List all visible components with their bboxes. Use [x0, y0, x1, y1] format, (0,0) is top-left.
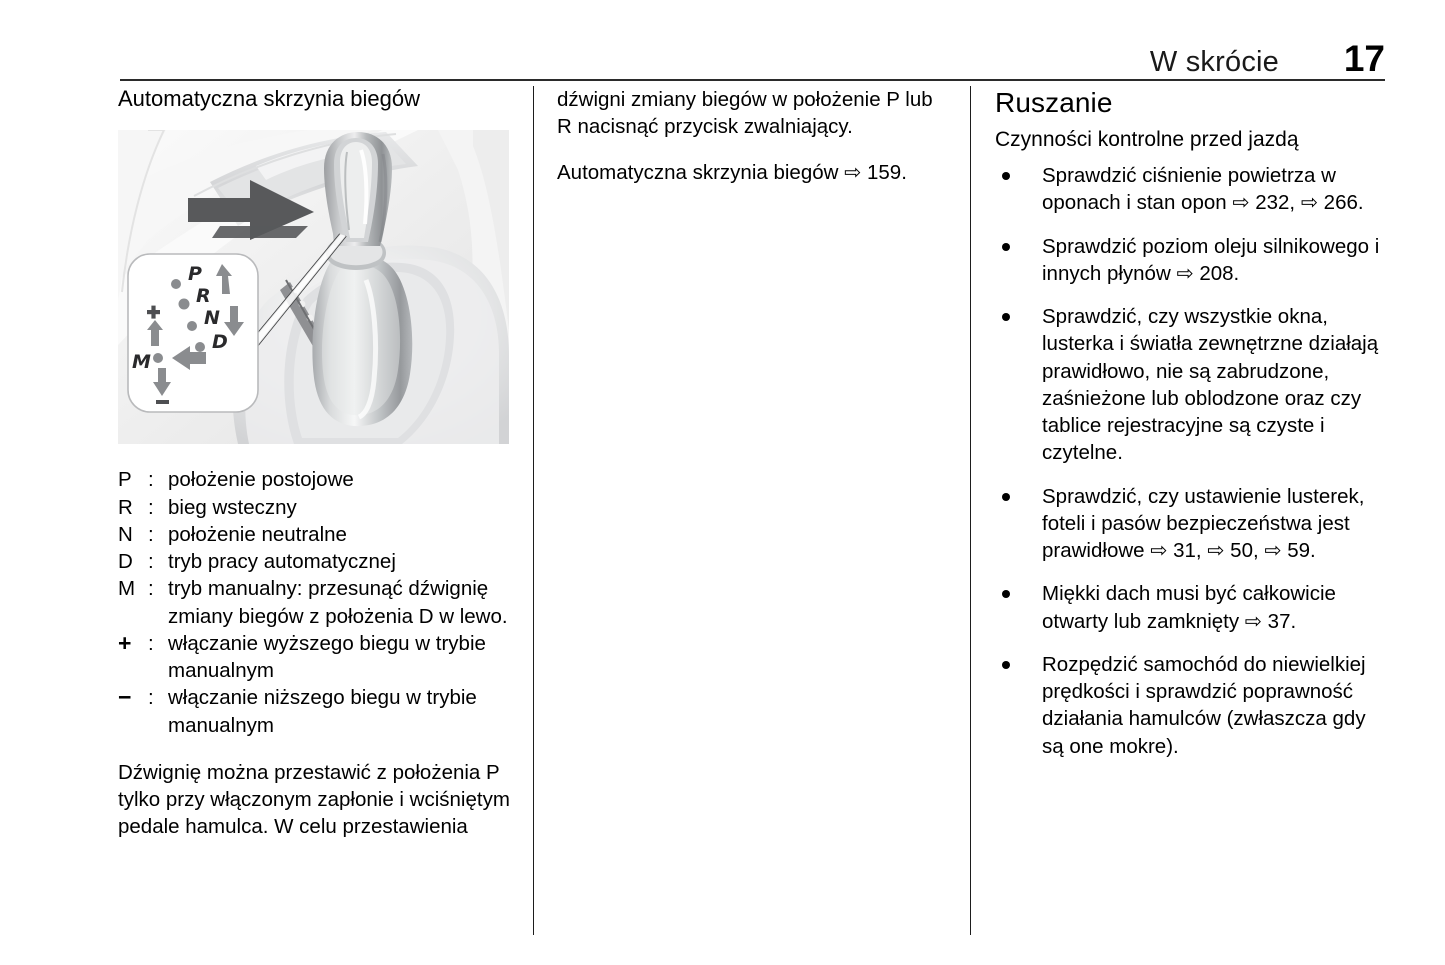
definition-term-plus: + — [118, 630, 148, 658]
bullet-dot-icon — [1002, 313, 1010, 321]
definition-colon: : — [148, 630, 168, 657]
definition-colon: : — [148, 521, 168, 548]
bullet-dot-icon — [1002, 493, 1010, 501]
column-divider-2 — [970, 86, 971, 935]
gear-position-definition-list: P : położenie postojowe R : bieg wsteczn… — [118, 466, 513, 739]
definition-description: włączanie niższego biegu w trybie manual… — [168, 684, 513, 739]
bullet-dot-icon — [1002, 243, 1010, 251]
definition-description: tryb pracy automatycznej — [168, 548, 513, 575]
bullet-dot-icon — [1002, 661, 1010, 669]
column-3: Ruszanie Czynności kontrolne przed jazdą… — [995, 86, 1390, 776]
page-title: W skrócie — [1150, 46, 1279, 79]
header-rule — [120, 79, 1385, 81]
definition-colon: : — [148, 494, 168, 521]
list-item: Rozpędzić samochód do niewielkiej prędko… — [995, 651, 1390, 760]
page-number: 17 — [1327, 38, 1385, 80]
definition-term: D — [118, 548, 148, 575]
definition-term: P — [118, 466, 148, 493]
definition-term: N — [118, 521, 148, 548]
definition-row: R : bieg wsteczny — [118, 494, 513, 521]
list-item: Sprawdzić, czy ustawienie lusterek, fote… — [995, 483, 1390, 565]
svg-text:R: R — [196, 285, 211, 307]
list-item: Sprawdzić poziom oleju silnikowego i inn… — [995, 233, 1390, 288]
svg-text:D: D — [212, 331, 228, 353]
automatic-gear-selector-illustration: P R N D M — [118, 130, 509, 444]
definition-colon: : — [148, 684, 168, 711]
definition-row: D : tryb pracy automatycznej — [118, 548, 513, 575]
definition-colon: : — [148, 466, 168, 493]
list-item-text: Sprawdzić, czy wszystkie okna, lusterka … — [1042, 305, 1378, 464]
definition-description: położenie neutralne — [168, 521, 513, 548]
svg-text:M: M — [132, 351, 151, 373]
definition-term: R — [118, 494, 148, 521]
definition-row: N : położenie neutralne — [118, 521, 513, 548]
section-heading-automatic-transmission: Automatyczna skrzynia biegów — [118, 86, 513, 112]
definition-description: położenie postojowe — [168, 466, 513, 493]
definition-row: − : włączanie niższego biegu w trybie ma… — [118, 684, 513, 739]
bullet-dot-icon — [1002, 172, 1010, 180]
list-item-text: Rozpędzić samochód do niewielkiej prędko… — [1042, 653, 1366, 758]
list-item-text: Miękki dach musi być całkowicie otwarty … — [1042, 582, 1336, 632]
definition-colon: : — [148, 548, 168, 575]
column-divider-1 — [533, 86, 534, 935]
definition-description: włączanie wyższego biegu w trybie manual… — [168, 630, 513, 685]
list-item: Sprawdzić ciśnienie powietrza w oponach … — [995, 162, 1390, 217]
definition-term: M — [118, 575, 148, 602]
list-item-text: Sprawdzić ciśnienie powietrza w oponach … — [1042, 164, 1364, 214]
svg-text:P: P — [188, 263, 202, 285]
definition-row: P : położenie postojowe — [118, 466, 513, 493]
subheading-pre-drive-checks: Czynności kontrolne przed jazdą — [995, 127, 1390, 152]
page-header: W skrócie 17 — [120, 38, 1385, 84]
definition-description: tryb manualny: przesunąć dźwignię zmiany… — [168, 575, 513, 630]
definition-description: bieg wsteczny — [168, 494, 513, 521]
definition-row: M : tryb manualny: przesunąć dźwignię zm… — [118, 575, 513, 630]
paragraph-continuation: dźwigni zmiany biegów w położenie P lub … — [557, 86, 949, 141]
bullet-dot-icon — [1002, 590, 1010, 598]
pre-drive-checklist: Sprawdzić ciśnienie powietrza w oponach … — [995, 162, 1390, 760]
paragraph-cross-reference: Automatyczna skrzynia biegów ⇨ 159. — [557, 159, 949, 186]
list-item-text: Sprawdzić, czy ustawienie lusterek, fote… — [1042, 485, 1364, 563]
definition-row: + : włączanie wyższego biegu w trybie ma… — [118, 630, 513, 685]
list-item: Miękki dach musi być całkowicie otwarty … — [995, 580, 1390, 635]
column-1: Automatyczna skrzynia biegów — [118, 86, 513, 859]
section-heading-starting: Ruszanie — [995, 86, 1390, 119]
paragraph-lever-release: Dźwignię można przestawić z położenia P … — [118, 759, 513, 841]
definition-colon: : — [148, 575, 168, 602]
list-item-text: Sprawdzić poziom oleju silnikowego i inn… — [1042, 235, 1379, 285]
definition-term-minus: − — [118, 684, 148, 712]
column-2: dźwigni zmiany biegów w położenie P lub … — [557, 86, 949, 204]
svg-text:N: N — [204, 307, 220, 329]
list-item: Sprawdzić, czy wszystkie okna, lusterka … — [995, 303, 1390, 467]
